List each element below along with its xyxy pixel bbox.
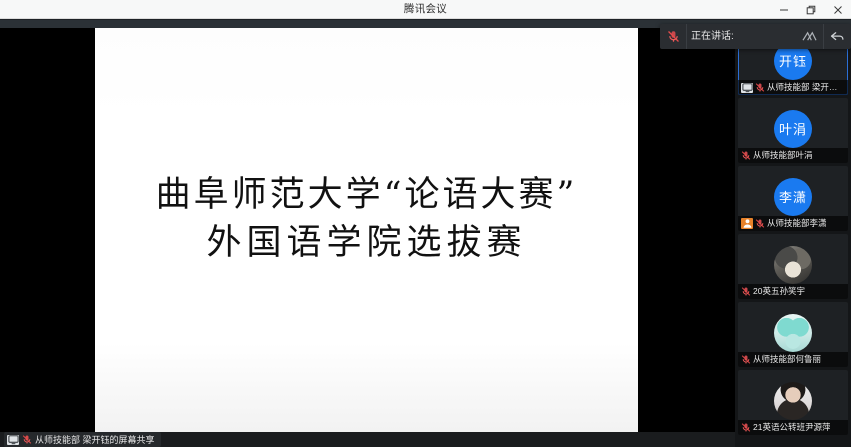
avatar bbox=[774, 382, 812, 420]
participant-tile[interactable]: 叶涓从师技能部叶涓 bbox=[738, 98, 848, 163]
window-controls bbox=[770, 0, 851, 19]
floating-toolbar[interactable]: 正在讲话: bbox=[660, 24, 851, 49]
restore-button[interactable] bbox=[797, 0, 824, 19]
exit-fullscreen-button[interactable] bbox=[823, 24, 851, 49]
window-title: 腾讯会议 bbox=[0, 0, 851, 18]
participant-tile[interactable]: 从师技能部何鲁丽 bbox=[738, 302, 848, 367]
participant-name: 从师技能部叶涓 bbox=[753, 148, 813, 163]
title-bar: 腾讯会议 bbox=[0, 0, 851, 19]
mic-muted-icon bbox=[755, 218, 765, 229]
mic-muted-icon bbox=[667, 30, 680, 43]
minimize-button[interactable] bbox=[770, 0, 797, 19]
layout-switch-icon bbox=[802, 30, 817, 43]
participant-tile[interactable]: 21英语公转班尹源萍 bbox=[738, 370, 848, 435]
restore-icon bbox=[806, 5, 816, 15]
avatar: 叶涓 bbox=[774, 110, 812, 148]
close-icon bbox=[833, 5, 843, 15]
mic-muted-icon bbox=[755, 82, 765, 93]
participant-tile[interactable]: 李潇从师技能部李潇 bbox=[738, 166, 848, 231]
minimize-icon bbox=[779, 5, 789, 15]
screen-share-icon bbox=[741, 83, 753, 93]
avatar: 李潇 bbox=[774, 178, 812, 216]
participant-name-bar: 从师技能部叶涓 bbox=[738, 148, 848, 163]
presentation-slide: 曲阜师范大学“论语大赛” 外国语学院选拔赛 bbox=[95, 28, 638, 432]
close-button[interactable] bbox=[824, 0, 851, 19]
participant-name-bar: 21英语公转班尹源萍 bbox=[738, 420, 848, 435]
shared-screen-stage[interactable]: 曲阜师范大学“论语大赛” 外国语学院选拔赛 bbox=[0, 28, 735, 432]
mic-muted-icon bbox=[741, 354, 751, 365]
participant-name: 从师技能部李潇 bbox=[767, 216, 827, 231]
avatar bbox=[774, 246, 812, 284]
mic-muted-icon bbox=[741, 150, 751, 161]
slide-title-line-1: 曲阜师范大学“论语大赛” bbox=[95, 171, 638, 219]
participant-list: 开钰从师技能部 梁开钰的...叶涓从师技能部叶涓李潇从师技能部李潇20英五孙笑宇… bbox=[735, 30, 851, 435]
share-status-bar: 从师技能部 梁开钰的屏幕共享 bbox=[0, 432, 735, 447]
participant-name: 21英语公转班尹源萍 bbox=[753, 420, 830, 435]
participant-name-bar: 20英五孙笑宇 bbox=[738, 284, 848, 299]
participant-name-bar: 从师技能部李潇 bbox=[738, 216, 848, 231]
participant-rail[interactable]: 开钰从师技能部 梁开钰的...叶涓从师技能部叶涓李潇从师技能部李潇20英五孙笑宇… bbox=[735, 28, 851, 447]
speaking-label: 正在讲话: bbox=[686, 24, 796, 49]
screen-share-icon bbox=[7, 435, 19, 445]
avatar bbox=[774, 314, 812, 352]
mic-muted-icon bbox=[22, 434, 32, 445]
meeting-window: 腾讯会议 bbox=[0, 0, 851, 447]
mic-muted-icon bbox=[741, 422, 751, 433]
participant-name: 从师技能部 梁开钰的... bbox=[767, 80, 845, 95]
share-status-pill: 从师技能部 梁开钰的屏幕共享 bbox=[4, 432, 161, 447]
speaker-mic-indicator bbox=[660, 24, 686, 49]
back-arrow-icon bbox=[830, 30, 845, 43]
slide-title-line-2: 外国语学院选拔赛 bbox=[95, 219, 638, 267]
mic-muted-icon bbox=[741, 286, 751, 297]
participant-tile[interactable]: 20英五孙笑宇 bbox=[738, 234, 848, 299]
participant-name: 20英五孙笑宇 bbox=[753, 284, 805, 299]
layout-switch-button[interactable] bbox=[796, 24, 823, 49]
slide-text: 曲阜师范大学“论语大赛” 外国语学院选拔赛 bbox=[95, 171, 638, 268]
share-status-label: 从师技能部 梁开钰的屏幕共享 bbox=[35, 433, 155, 446]
host-icon bbox=[741, 218, 753, 229]
participant-name: 从师技能部何鲁丽 bbox=[753, 352, 821, 367]
participant-name-bar: 从师技能部 梁开钰的... bbox=[738, 80, 848, 95]
participant-name-bar: 从师技能部何鲁丽 bbox=[738, 352, 848, 367]
share-frame-seam bbox=[0, 19, 851, 20]
